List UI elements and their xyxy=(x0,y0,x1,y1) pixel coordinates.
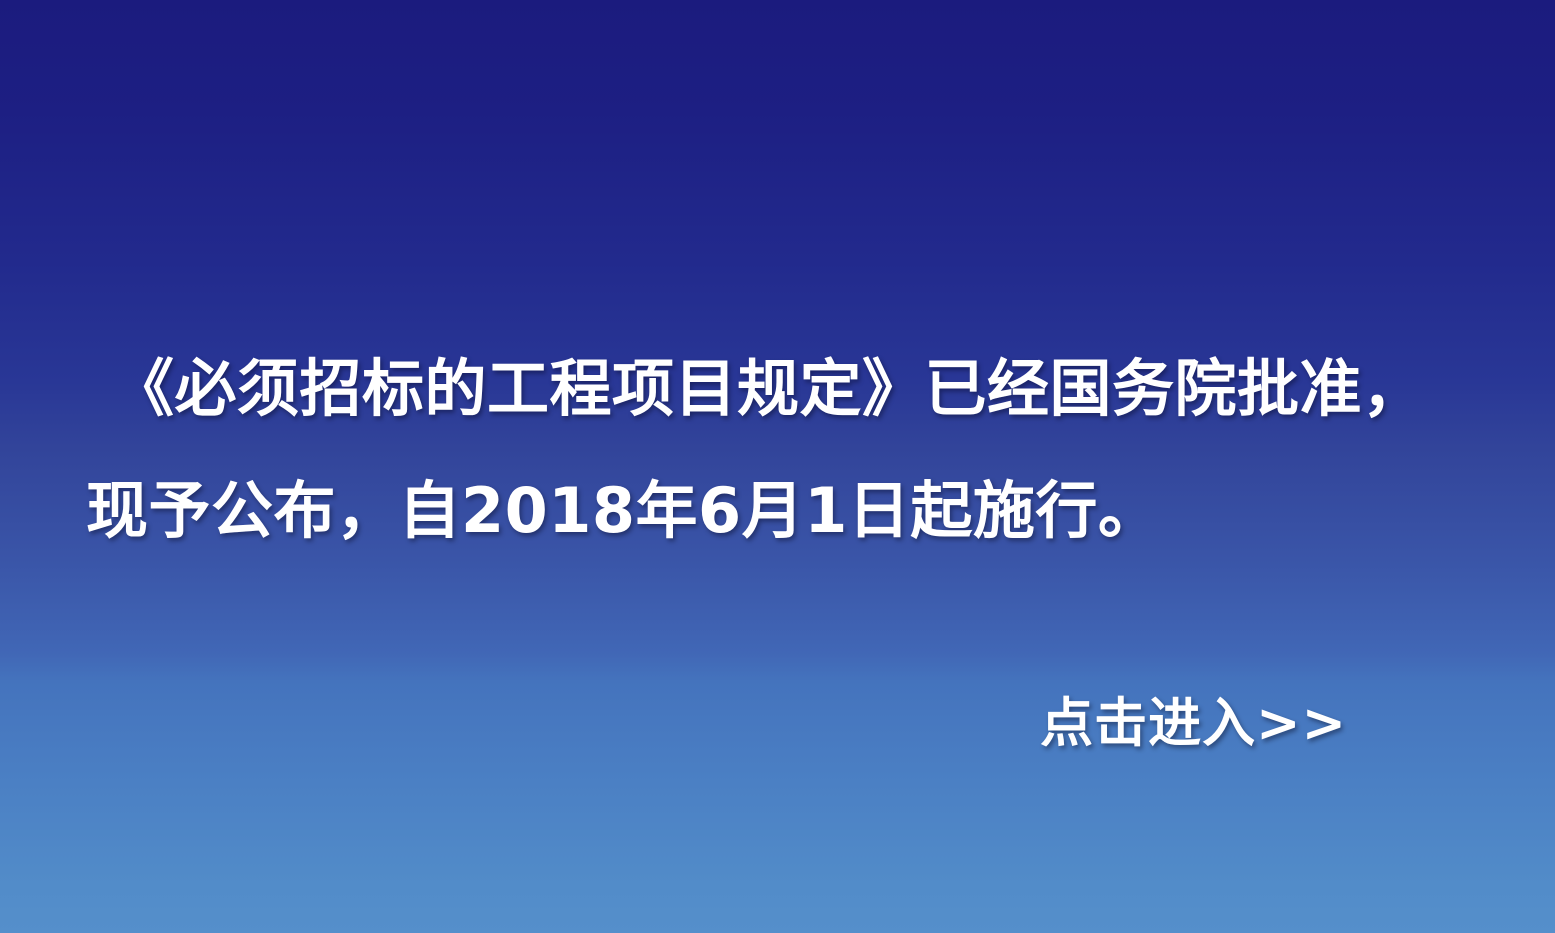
cta-container: 点击进入>> xyxy=(0,688,1555,760)
headline-line-1: 《必须招标的工程项目规定》已经国务院批准， xyxy=(86,328,1486,450)
headline-line-2: 现予公布，自2018年6月1日起施行。 xyxy=(86,450,1486,572)
enter-link[interactable]: 点击进入>> xyxy=(1040,688,1347,760)
announcement-headline: 《必须招标的工程项目规定》已经国务院批准， 现予公布，自2018年6月1日起施行… xyxy=(86,328,1486,572)
announcement-banner: 《必须招标的工程项目规定》已经国务院批准， 现予公布，自2018年6月1日起施行… xyxy=(0,0,1555,933)
